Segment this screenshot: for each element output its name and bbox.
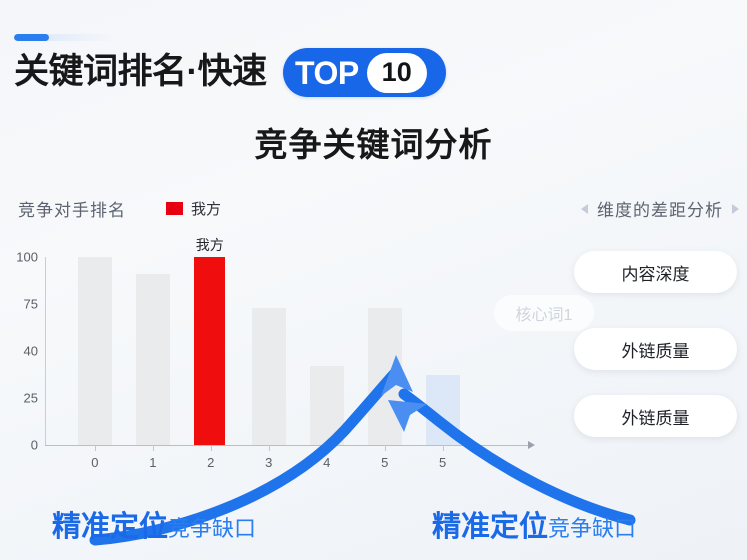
caption-right: 精准定位 竞争缺口 — [432, 503, 636, 545]
annotation-arrows — [0, 0, 747, 560]
caption-right-big: 精准定位 — [432, 503, 548, 545]
caption-left-small: 竞争缺口 — [168, 511, 256, 543]
caption-right-small: 竞争缺口 — [548, 511, 636, 543]
caption-left: 精准定位 竞争缺口 — [52, 503, 256, 545]
caption-left-big: 精准定位 — [52, 503, 168, 545]
